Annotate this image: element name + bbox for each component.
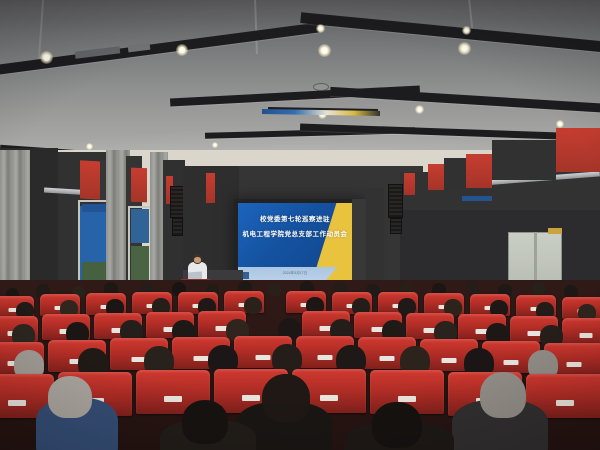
seat-number-tag <box>504 360 519 365</box>
attendee <box>48 376 92 418</box>
audience-seating <box>0 280 600 450</box>
left-wall-red-panel <box>131 168 147 203</box>
seat-number-tag <box>380 356 395 361</box>
ceiling-spotlight <box>556 120 564 128</box>
attendee <box>532 282 545 295</box>
ceiling-spotlight <box>462 26 471 35</box>
slide-title-line-1: 校党委第七轮巡察进驻 <box>238 216 352 224</box>
seat-number-tag <box>567 362 582 367</box>
attendee <box>244 297 262 314</box>
right-wall-panel <box>492 140 556 180</box>
right-wall-red-panel <box>404 173 415 195</box>
ceiling-spotlight <box>176 44 188 56</box>
attendee <box>182 400 228 444</box>
ceiling-spotlight <box>316 24 325 33</box>
seat-number-tag <box>320 395 338 401</box>
slide-date: 2024年5月17日 <box>238 271 352 276</box>
theater-seat[interactable] <box>562 318 600 344</box>
attendee <box>466 281 479 294</box>
right-wall-blue-trim <box>462 196 492 201</box>
ceiling-air-vent <box>313 83 329 91</box>
right-wall-red-panel <box>428 164 444 190</box>
ceiling-spotlight <box>40 51 53 64</box>
attendee <box>262 374 310 422</box>
seat-number-tag <box>442 358 457 363</box>
slide-title-line-2: 机电工程学院党总支部工作动员会 <box>238 231 352 239</box>
attendee <box>268 283 281 296</box>
seat-number-tag <box>580 333 593 338</box>
seat-number-tag <box>8 400 26 406</box>
left-wall-red-panel <box>80 160 102 199</box>
seat-number-tag <box>194 356 209 361</box>
seat-number-tag <box>528 331 541 336</box>
seat-number-tag <box>164 396 182 402</box>
seat-number-tag <box>318 355 333 360</box>
stage-wall-red-strip <box>206 173 215 203</box>
line-array-loudspeaker-left <box>172 218 183 236</box>
ceiling-spotlight <box>415 105 424 114</box>
screen-side-frame <box>352 199 366 291</box>
right-wall-red-panel <box>556 128 600 172</box>
window-sky <box>131 209 149 243</box>
line-array-loudspeaker-left <box>170 186 184 218</box>
attendee <box>372 402 422 448</box>
attendee <box>480 372 526 418</box>
right-wall-panel <box>444 158 466 190</box>
right-wall-red-panel <box>466 154 492 188</box>
ceiling-spotlight <box>212 142 218 148</box>
line-array-loudspeaker-right <box>390 218 402 234</box>
seat-number-tag <box>256 355 271 360</box>
seat-number-tag <box>556 400 574 406</box>
ceiling-spotlight <box>318 44 331 57</box>
window-header-band <box>82 204 106 212</box>
ceiling-spotlight <box>458 42 471 55</box>
door-sign <box>548 228 562 234</box>
line-array-loudspeaker-right <box>388 184 403 218</box>
auditorium-photo: 校党委第七轮巡察进驻 机电工程学院党总支部工作动员会 2024年5月17日 <box>0 0 600 450</box>
seat-number-tag <box>398 396 416 402</box>
presenter-face <box>194 257 201 263</box>
seat-number-tag <box>242 395 260 401</box>
ceiling-spotlight <box>86 143 93 150</box>
projection-screen: 校党委第七轮巡察进驻 机电工程学院党总支部工作动员会 2024年5月17日 <box>238 203 352 285</box>
